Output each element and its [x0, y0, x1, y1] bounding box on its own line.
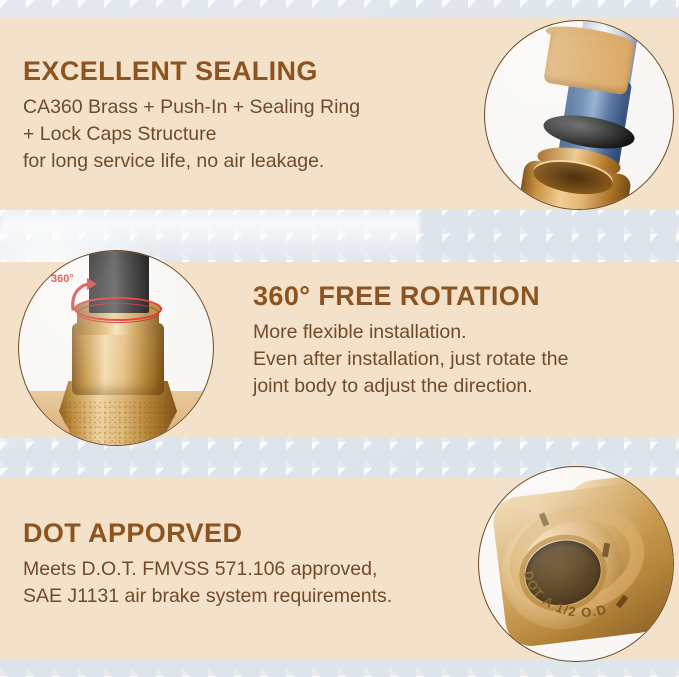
hex-nut-texture	[59, 401, 177, 446]
free-rotation-body-line-2: Even after installation, just rotate the	[253, 346, 568, 373]
free-rotation-heading: 360° FREE ROTATION	[253, 282, 568, 312]
excellent-sealing-body-line-3: for long service life, no air leakage.	[23, 148, 360, 175]
dot-approved-body-line-1: Meets D.O.T. FMVSS 571.106 approved,	[23, 556, 392, 583]
photo-1-content	[485, 21, 673, 209]
dot-approved-text-block: DOT APPORVED Meets D.O.T. FMVSS 571.106 …	[23, 519, 392, 610]
free-rotation-text-block: 360° FREE ROTATION More flexible install…	[253, 282, 568, 399]
rotating-joint-photo: 360°	[18, 250, 214, 446]
free-rotation-body-line-3: joint body to adjust the direction.	[253, 373, 568, 400]
dot-approved-heading: DOT APPORVED	[23, 519, 392, 549]
exploded-push-in-fitting-photo	[484, 20, 674, 210]
excellent-sealing-text-block: EXCELLENT SEALING CA360 Brass + Push-In …	[23, 57, 360, 174]
photo-2-content: 360°	[19, 251, 213, 445]
excellent-sealing-heading: EXCELLENT SEALING	[23, 57, 360, 87]
photo-3-content: DOT A 1/2 O.D	[479, 467, 673, 661]
excellent-sealing-body-line-2: + Lock Caps Structure	[23, 121, 360, 148]
dot-engraving-photo: DOT A 1/2 O.D	[478, 466, 674, 662]
excellent-sealing-body-line-1: CA360 Brass + Push-In + Sealing Ring	[23, 94, 360, 121]
free-rotation-body-line-1: More flexible installation.	[253, 319, 568, 346]
rotation-callout-label: 360°	[51, 273, 74, 285]
dot-approved-body-line-2: SAE J1131 air brake system requirements.	[23, 583, 392, 610]
dot-engraving-label: DOT A 1/2 O.D	[521, 562, 610, 626]
dot-engraving-text: DOT A 1/2 O.D	[509, 506, 660, 636]
